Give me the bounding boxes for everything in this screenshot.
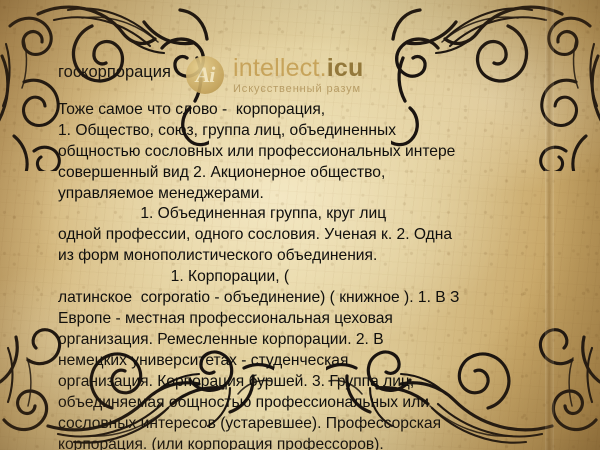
dictionary-page: Ai intellect.icu Искусственный разум гос… <box>0 0 600 450</box>
definition-line: 1. Общество, союз, группа лиц, объединен… <box>58 121 558 142</box>
definition-line: 1. Объединенная группа, круг лиц <box>58 204 558 225</box>
dictionary-entry: госкорпорация Тоже самое что слово - кор… <box>58 62 558 450</box>
definition-line: организация. Ремесленные корпорации. 2. … <box>58 330 558 351</box>
definition-line: общностью сословных или профессиональных… <box>58 142 558 163</box>
definition-line: Европе - местная профессиональная цехова… <box>58 309 558 330</box>
definition-line: 1. Корпорации, ( <box>58 267 558 288</box>
definition-line: латинское corporatio - объединение) ( кн… <box>58 288 558 309</box>
definition-text: Тоже самое что слово - корпорация,1. Общ… <box>58 100 558 450</box>
definition-line: управляемое менеджерами. <box>58 184 558 205</box>
definition-line: немецких университетах - студенческая <box>58 351 558 372</box>
definition-line: совершенный вид 2. Акционерное общество, <box>58 163 558 184</box>
definition-line: сословных интересов (устаревшее). Профес… <box>58 414 558 435</box>
definition-line: организация. Корпорация буршей. 3. Групп… <box>58 372 558 393</box>
definition-line: Тоже самое что слово - корпорация, <box>58 100 558 121</box>
definition-line: корпорация. (или корпорация профессоров)… <box>58 435 558 450</box>
definition-line: объединяемая общностью профессиональных … <box>58 393 558 414</box>
headword: госкорпорация <box>58 62 558 83</box>
definition-line: одной профессии, одного сословия. Ученая… <box>58 225 558 246</box>
definition-line: из форм монополистического объединения. <box>58 246 558 267</box>
